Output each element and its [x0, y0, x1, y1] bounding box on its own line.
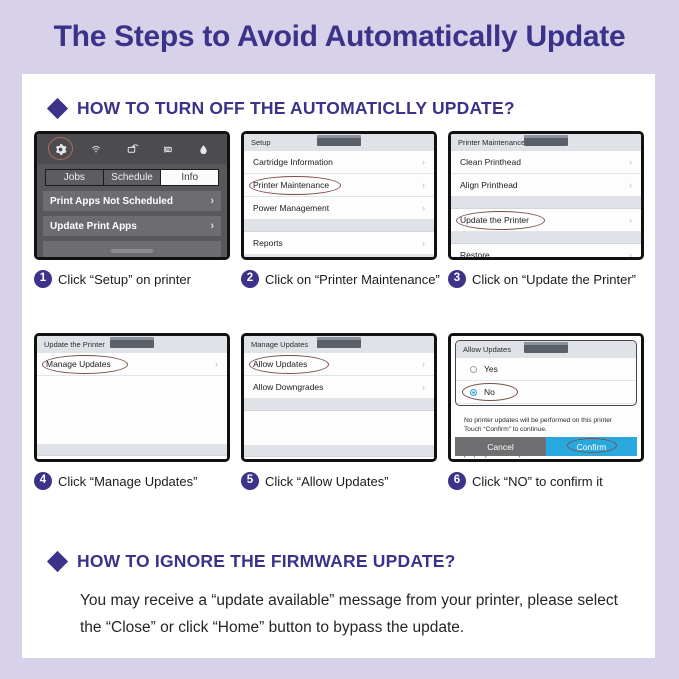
drawer-grip-icon [317, 135, 361, 146]
dialog-button-bar: Cancel Confirm [455, 437, 637, 456]
screen-header-label: Printer Maintenance [458, 138, 525, 147]
step-caption: 1 Click “Setup” on printer [34, 270, 230, 288]
confirm-button[interactable]: Confirm [546, 437, 637, 456]
drawer-grip-icon [317, 337, 361, 348]
allow-updates-dialog: Allow Updates Yes No [455, 340, 637, 406]
list-item[interactable]: Restore › [451, 244, 641, 260]
screenshot-step-4: Update the Printer Manage Updates › [34, 333, 230, 462]
list-item[interactable]: Clean Printhead › [451, 151, 641, 174]
step-caption-text: Click on “Update the Printer” [472, 272, 636, 287]
chevron-right-icon: › [422, 180, 425, 190]
list-item-label: Printer Maintenance [253, 180, 329, 190]
step-caption-text: Click “Allow Updates” [265, 474, 389, 489]
home-indicator [37, 249, 227, 253]
printer-screen-light: Manage Updates Allow Updates › Allow Dow… [244, 336, 434, 459]
list-item[interactable]: Reports › [244, 232, 434, 255]
list-item[interactable]: Manage Updates › [37, 353, 227, 376]
printer-tabs: Jobs Schedule Info [45, 169, 219, 186]
list-item[interactable]: Printer Maintenance › [244, 174, 434, 197]
step-3: Printer Maintenance Clean Printhead › Al… [448, 131, 644, 288]
list-item-label: Align Printhead [460, 180, 518, 190]
highlight-ellipse-gear [48, 137, 73, 160]
list-separator [244, 399, 434, 411]
screen-header: Printer Maintenance [451, 134, 641, 151]
ink-drop-icon[interactable] [191, 137, 215, 161]
step-caption-text: Click “Setup” on printer [58, 272, 191, 287]
list-separator [37, 444, 227, 456]
chevron-right-icon: › [629, 250, 632, 260]
screen-header: Update the Printer [37, 336, 227, 353]
list-item[interactable]: Allow Updates › [244, 353, 434, 376]
screenshot-step-6: Allow Updates Yes No [448, 333, 644, 462]
gear-icon[interactable] [49, 137, 73, 161]
content-card: HOW TO TURN OFF THE AUTOMATICLLY UPDATE? [22, 74, 655, 658]
screen-header: Manage Updates [244, 336, 434, 353]
list-separator [244, 255, 434, 260]
printer-screen-light: Printer Maintenance Clean Printhead › Al… [451, 134, 641, 257]
notice-line-2: Touch “Confirm” to continue. [464, 425, 628, 434]
screen-header-label: Setup [251, 138, 271, 147]
drawer-grip-icon [524, 342, 568, 353]
step-number-badge: 1 [34, 270, 52, 288]
list-item-label: Update the Printer [460, 215, 529, 225]
chevron-right-icon: › [422, 382, 425, 392]
radio-option-yes[interactable]: Yes [456, 358, 636, 381]
step-6: Allow Updates Yes No [448, 333, 644, 490]
chevron-right-icon: › [210, 220, 214, 232]
list-item[interactable]: Allow Downgrades › [244, 376, 434, 399]
list-item[interactable]: Print Apps Not Scheduled › [43, 191, 221, 211]
printer-toolbar [37, 134, 227, 164]
chevron-right-icon: › [210, 195, 214, 207]
section2-title: HOW TO IGNORE THE FIRMWARE UPDATE? [77, 551, 456, 572]
section2-body: You may receive a “update available” mes… [80, 587, 640, 641]
list-separator [244, 445, 434, 457]
section-heading-ignore: HOW TO IGNORE THE FIRMWARE UPDATE? [50, 551, 456, 572]
chevron-right-icon: › [215, 359, 218, 369]
list-separator [451, 197, 641, 209]
radio-label: Yes [484, 364, 498, 374]
list-item[interactable]: Update Print Apps › [43, 216, 221, 236]
list-item-label: Cartridge Information [253, 157, 333, 167]
confirm-button-label: Confirm [577, 442, 607, 452]
chevron-right-icon: › [422, 359, 425, 369]
list-empty-area [37, 376, 227, 444]
screen-header: Setup [244, 134, 434, 151]
wifi-icon[interactable] [84, 137, 108, 161]
section-heading-turn-off: HOW TO TURN OFF THE AUTOMATICLLY UPDATE? [50, 98, 515, 119]
screen-header-label: Manage Updates [251, 340, 308, 349]
list-item[interactable]: Cartridge Information › [244, 151, 434, 174]
drawer-grip-icon [110, 337, 154, 348]
step-number-badge: 3 [448, 270, 466, 288]
step-caption-text: Click “NO” to confirm it [472, 474, 603, 489]
step-caption: 3 Click on “Update the Printer” [448, 270, 644, 288]
screen-header: Allow Updates [456, 341, 636, 358]
drawer-grip-icon [524, 135, 568, 146]
tab-jobs[interactable]: Jobs [46, 170, 104, 185]
step-number-badge: 6 [448, 472, 466, 490]
screen-header-label: Allow Updates [463, 345, 511, 354]
step-number-badge: 2 [241, 270, 259, 288]
diamond-bullet-icon [47, 551, 68, 572]
radio-option-no[interactable]: No [456, 381, 636, 404]
list-item-label: Allow Downgrades [253, 382, 323, 392]
wireless-direct-icon[interactable] [120, 137, 144, 161]
printer-screen-dialog: Allow Updates Yes No [451, 336, 641, 459]
list-item-label: Allow Updates [253, 359, 307, 369]
screenshot-step-1: Jobs Schedule Info Print Apps Not Schedu… [34, 131, 230, 260]
screenshot-step-3: Printer Maintenance Clean Printhead › Al… [448, 131, 644, 260]
chevron-right-icon: › [629, 180, 632, 190]
section1-title: HOW TO TURN OFF THE AUTOMATICLLY UPDATE? [77, 98, 515, 119]
step-number-badge: 5 [241, 472, 259, 490]
list-separator [244, 220, 434, 232]
diamond-bullet-icon [47, 98, 68, 119]
step-2: Setup Cartridge Information › Printer Ma… [241, 131, 437, 288]
step-number-badge: 4 [34, 472, 52, 490]
screenshot-step-5: Manage Updates Allow Updates › Allow Dow… [241, 333, 437, 462]
list-separator [451, 232, 641, 244]
list-item-label: Power Management [253, 203, 329, 213]
tab-schedule[interactable]: Schedule [104, 170, 162, 185]
radio-label: No [484, 387, 495, 397]
step-caption: 4 Click “Manage Updates” [34, 472, 230, 490]
tab-info[interactable]: Info [161, 170, 218, 185]
list-item[interactable]: Update the Printer › [451, 209, 641, 232]
screen-header-label: Update the Printer [44, 340, 105, 349]
fax-icon[interactable] [156, 137, 180, 161]
list-empty-area [244, 411, 434, 445]
list-item[interactable]: Align Printhead › [451, 174, 641, 197]
step-caption-text: Click on “Printer Maintenance” [265, 272, 440, 287]
printer-screen-dark: Jobs Schedule Info Print Apps Not Schedu… [37, 134, 227, 257]
printer-screen-light: Setup Cartridge Information › Printer Ma… [244, 134, 434, 257]
list-item-label: Reports [253, 238, 283, 248]
page-title: The Steps to Avoid Automatically Update [0, 20, 679, 54]
poster-page: The Steps to Avoid Automatically Update … [0, 0, 679, 679]
notice-line-1: No printer updates will be performed on … [464, 416, 628, 425]
chevron-right-icon: › [422, 157, 425, 167]
radio-icon-selected [470, 389, 477, 396]
chevron-right-icon: › [629, 215, 632, 225]
list-item[interactable]: Power Management › [244, 197, 434, 220]
list-item-label: Update Print Apps [50, 221, 137, 232]
list-item-label: Clean Printhead [460, 157, 521, 167]
chevron-right-icon: › [422, 203, 425, 213]
step-caption: 6 Click “NO” to confirm it [448, 472, 644, 490]
list-item-label: Restore [460, 250, 490, 260]
printer-screen-light: Update the Printer Manage Updates › [37, 336, 227, 459]
screenshot-step-2: Setup Cartridge Information › Printer Ma… [241, 131, 437, 260]
step-caption-text: Click “Manage Updates” [58, 474, 197, 489]
step-1: Jobs Schedule Info Print Apps Not Schedu… [34, 131, 230, 288]
chevron-right-icon: › [629, 157, 632, 167]
cancel-button[interactable]: Cancel [455, 437, 546, 456]
step-5: Manage Updates Allow Updates › Allow Dow… [241, 333, 437, 490]
step-caption: 5 Click “Allow Updates” [241, 472, 437, 490]
step-caption: 2 Click on “Printer Maintenance” [241, 270, 437, 288]
notice-block: No printer updates will be performed on … [455, 410, 637, 437]
radio-icon [470, 366, 477, 373]
list-item-label: Print Apps Not Scheduled [50, 196, 173, 207]
step-4: Update the Printer Manage Updates › [34, 333, 230, 490]
chevron-right-icon: › [422, 238, 425, 248]
list-item-label: Manage Updates [46, 359, 111, 369]
